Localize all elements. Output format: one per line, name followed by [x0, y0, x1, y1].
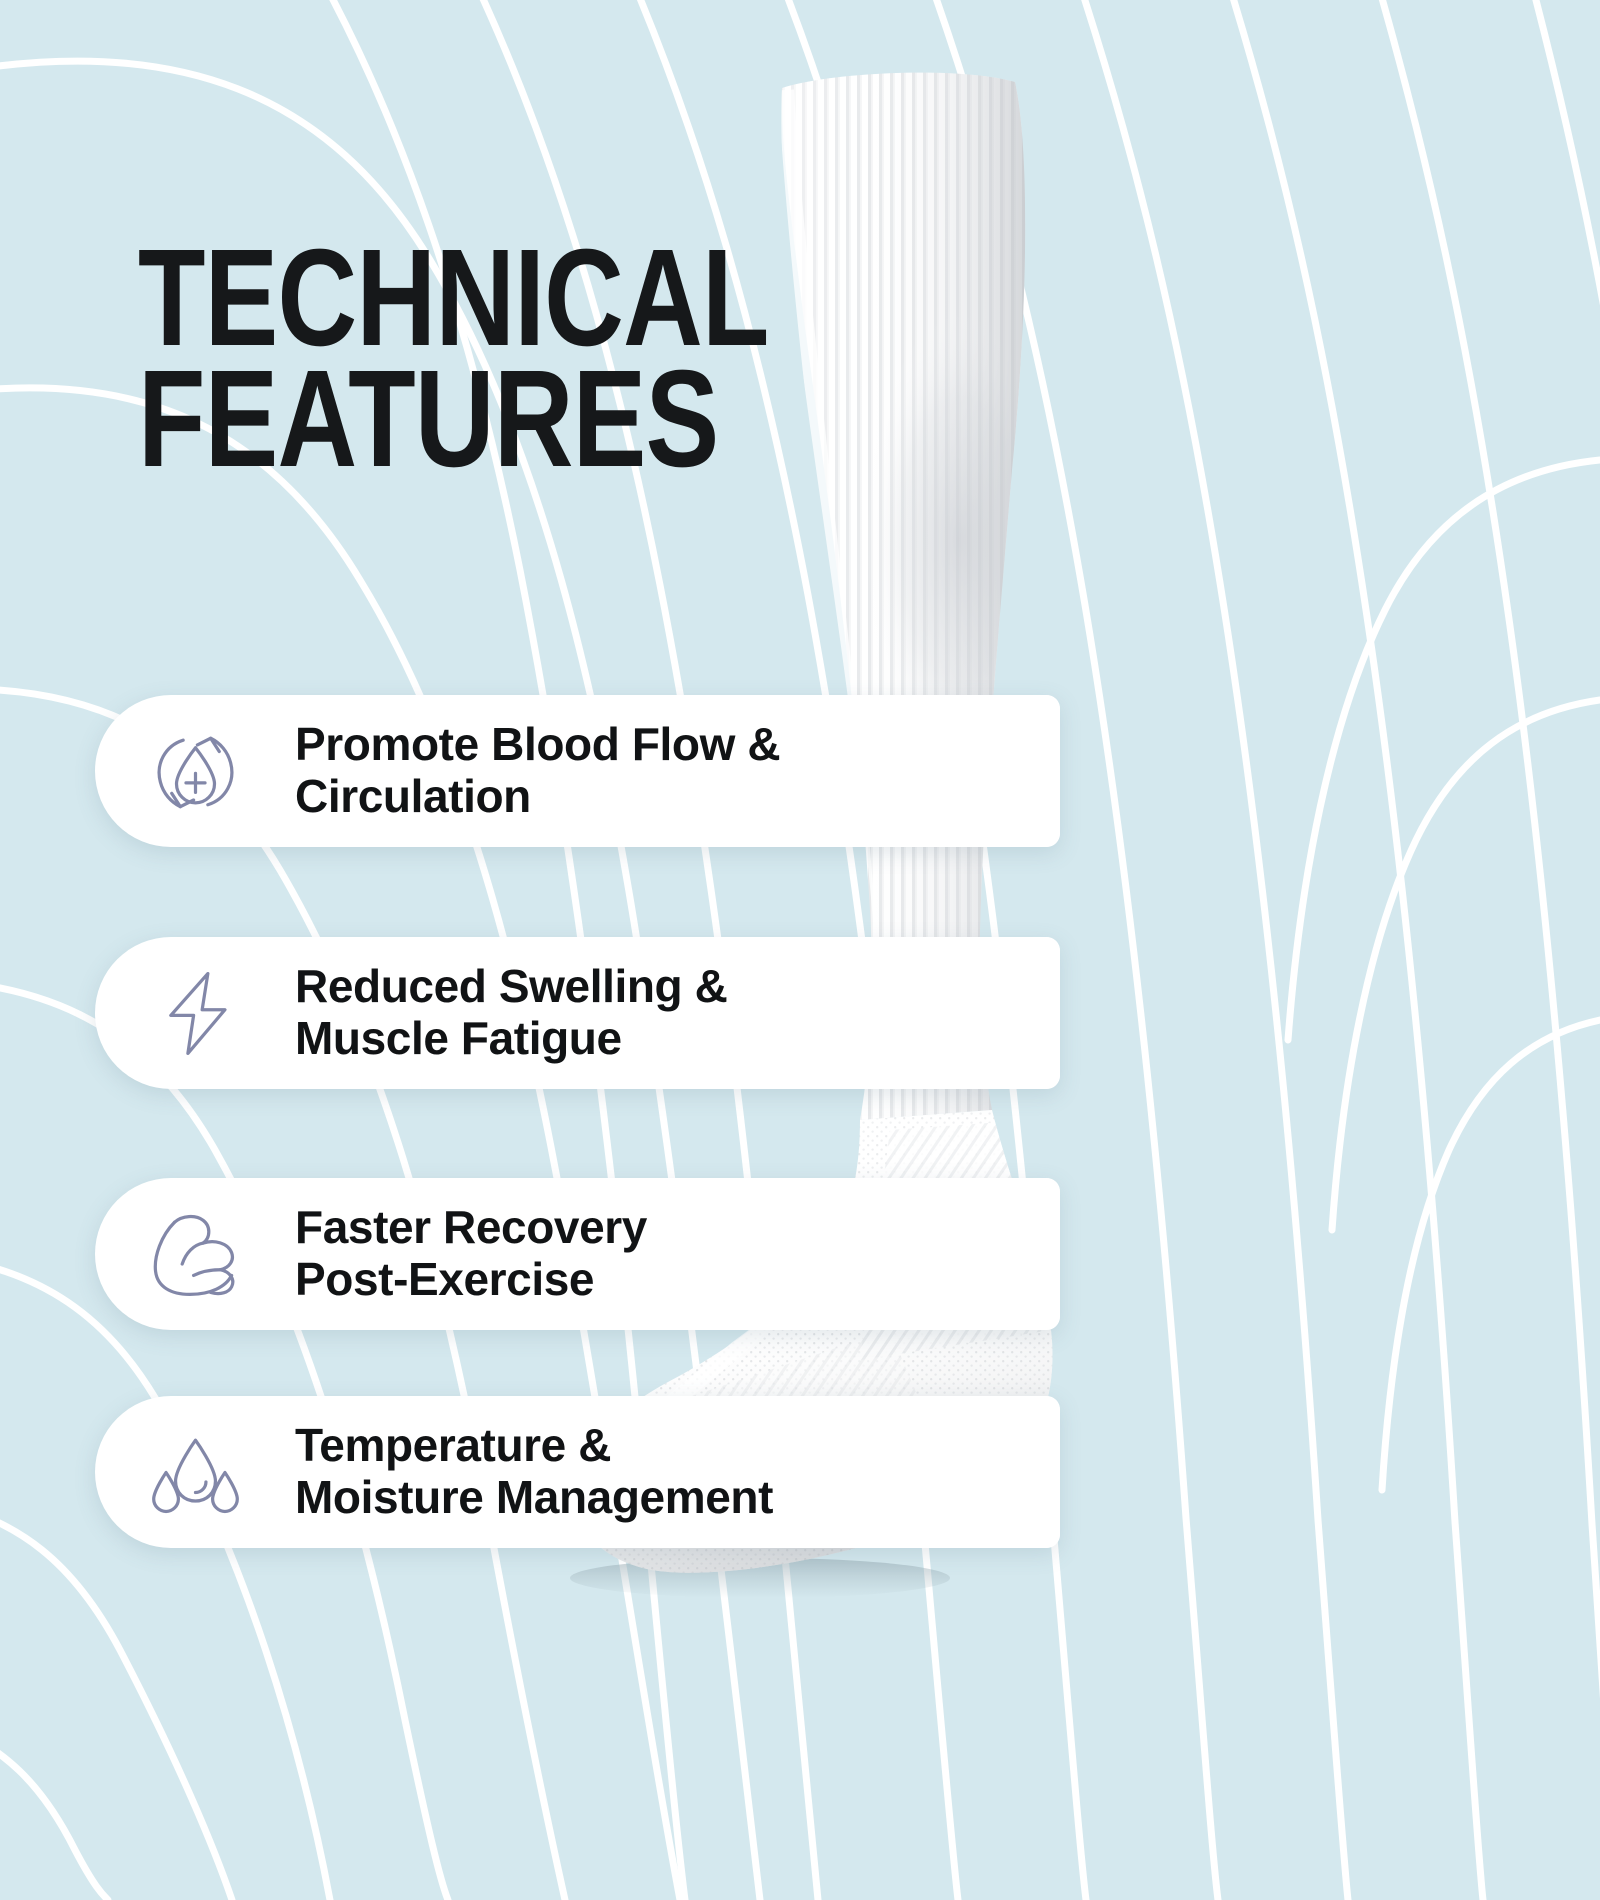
blood-drop-circulation-icon: [137, 724, 253, 819]
feature-label: Temperature & Moisture Management: [295, 1420, 773, 1523]
feature-card-faster-recovery[interactable]: Faster Recovery Post-Exercise: [95, 1178, 1060, 1330]
water-droplets-icon: [137, 1425, 253, 1520]
feature-card-temperature-moisture[interactable]: Temperature & Moisture Management: [95, 1396, 1060, 1548]
flexed-bicep-icon: [137, 1207, 253, 1302]
lightning-bolt-icon: [137, 966, 253, 1061]
infographic-canvas: TECHNICAL FEATURES: [0, 0, 1600, 1900]
feature-card-blood-flow[interactable]: Promote Blood Flow & Circulation: [95, 695, 1060, 847]
feature-card-reduced-swelling[interactable]: Reduced Swelling & Muscle Fatigue: [95, 937, 1060, 1089]
feature-label: Faster Recovery Post-Exercise: [295, 1202, 647, 1305]
page-title: TECHNICAL FEATURES: [138, 238, 746, 481]
feature-label: Promote Blood Flow & Circulation: [295, 719, 780, 822]
feature-label: Reduced Swelling & Muscle Fatigue: [295, 961, 727, 1064]
